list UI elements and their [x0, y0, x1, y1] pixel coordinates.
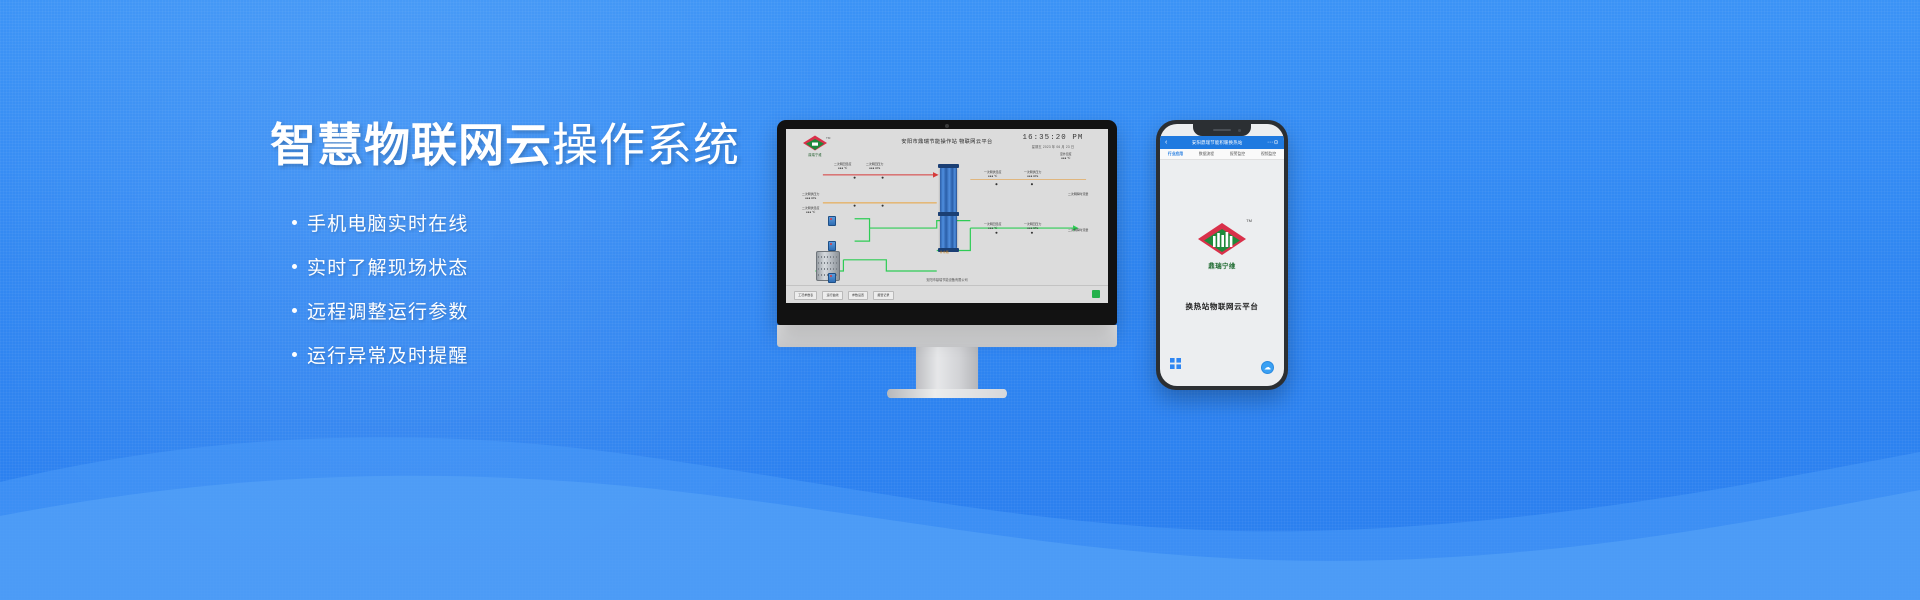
clock-date: 星期五 2023 年 06 月 23 日: [1014, 144, 1092, 149]
bullet-label: 远程调整运行参数: [307, 297, 469, 324]
scada-tab-bar[interactable]: 工况参数表 运行曲线 参数设置 报警记录: [794, 291, 894, 300]
bullet-label: 运行异常及时提醒: [307, 341, 469, 368]
sensor-label: 二次网供温度●●● ℃: [802, 207, 819, 214]
scada-footer: 安阳市鼎瑞节能设备有限公司 工况参数表 运行曲线 参数设置 报警记录: [786, 285, 1108, 303]
phone-frame: ‹ 安阳鼎瑞节能积暖换热站 ⋯⊙ 行业应用 数据流程 报警监控 视频监控: [1156, 120, 1288, 390]
phone-content: TM 鼎瑞宁维 换热站物联网云平台 ☁: [1160, 160, 1284, 386]
scada-diagram: 二次网回温度●●● ℃ 二次网回压力●●● kPa 二次网供压力●●● kPa …: [786, 159, 1108, 285]
clock-time: 16:35:20 PM: [1014, 134, 1092, 142]
chat-glyph: ☁: [1264, 364, 1271, 371]
smartphone-mockup: ‹ 安阳鼎瑞节能积暖换热站 ⋯⊙ 行业应用 数据流程 报警监控 视频监控: [1156, 120, 1288, 390]
heat-exchanger: [940, 167, 957, 213]
monitor-screen: TM 鼎瑞宁维 安阳市鼎瑞节能操作站 物联网云平台 16:35:20 PM 星期…: [786, 129, 1108, 303]
desktop-monitor-mockup: TM 鼎瑞宁维 安阳市鼎瑞节能操作站 物联网云平台 16:35:20 PM 星期…: [777, 120, 1117, 398]
scada-clock: 16:35:20 PM 星期五 2023 年 06 月 23 日: [1014, 134, 1092, 149]
bullet-label: 手机电脑实时在线: [307, 209, 469, 236]
hero-banner: 智慧物联网云操作系统 手机电脑实时在线 实时了解现场状态 远程调整运行参数 运行…: [0, 0, 1920, 600]
monitor-chin: [777, 325, 1117, 347]
monitor-bezel: TM 鼎瑞宁维 安阳市鼎瑞节能操作站 物联网云平台 16:35:20 PM 星期…: [777, 120, 1117, 325]
sensor-label: 二次网瞬时流量: [1068, 193, 1088, 197]
bullet-dot-icon: [292, 220, 297, 225]
tab-data-flow[interactable]: 数据流程: [1199, 152, 1214, 157]
company-logo: TM 鼎瑞宁维: [1195, 222, 1249, 258]
phone-nav-title: 安阳鼎瑞节能积暖换热站: [1167, 140, 1267, 146]
footer-copyright: 安阳市鼎瑞节能设备有限公司: [786, 277, 1108, 282]
bullet-dot-icon: [292, 264, 297, 269]
sensor-label: 二次网回压力●●● kPa: [866, 163, 883, 170]
headline-strong: 智慧物联网云: [270, 119, 552, 171]
sensor-label: 室外温度●●● ℃: [1060, 153, 1072, 160]
grid-icon[interactable]: [1170, 358, 1182, 370]
circulation-pump: [828, 241, 836, 251]
more-dots-icon[interactable]: ⋯⊙: [1267, 139, 1279, 146]
phone-tab-bar[interactable]: 行业应用 数据流程 报警监控 视频监控: [1160, 149, 1284, 160]
monitor-stand-base: [887, 389, 1007, 398]
platform-title: 换热站物联网云平台: [1160, 301, 1284, 312]
speaker-icon: [1213, 129, 1231, 131]
front-camera-icon: [1238, 129, 1241, 132]
tab-run-curve[interactable]: 运行曲线: [822, 291, 842, 300]
tab-operating-params[interactable]: 工况参数表: [794, 291, 817, 300]
tab-alarm-log[interactable]: 报警记录: [873, 291, 893, 300]
bottom-wave-decoration: [0, 390, 1920, 600]
sensor-label: 一次网供压力●●● kPa: [1024, 171, 1041, 178]
tab-industry-apps[interactable]: 行业应用: [1168, 152, 1183, 157]
phone-notch: [1193, 124, 1251, 136]
heat-exchanger: [940, 215, 957, 249]
sensor-label: 二次网供压力●●● kPa: [802, 193, 819, 200]
phone-screen: ‹ 安阳鼎瑞节能积暖换热站 ⋯⊙ 行业应用 数据流程 报警监控 视频监控: [1160, 124, 1284, 386]
sensor-label: 一次网回压力●●● kPa: [1024, 223, 1041, 230]
tab-video-monitor[interactable]: 视频监控: [1261, 152, 1276, 157]
sensor-label: 二次网瞬时流量: [1068, 229, 1088, 233]
tab-alarm-monitor[interactable]: 报警监控: [1230, 152, 1245, 157]
trademark-label: TM: [1246, 218, 1252, 223]
webcam-icon: [945, 124, 949, 128]
phone-navbar: ‹ 安阳鼎瑞节能积暖换热站 ⋯⊙: [1160, 136, 1284, 149]
tab-settings[interactable]: 参数设置: [848, 291, 868, 300]
monitor-stand-neck: [916, 347, 978, 389]
headline-light: 操作系统: [552, 119, 740, 171]
chat-icon[interactable]: ☁: [1261, 361, 1274, 374]
sensor-label: 一次网回温度●●● ℃: [984, 223, 1001, 230]
sensor-label: 一次网供温度●●● ℃: [984, 171, 1001, 178]
circulation-pump: [828, 216, 836, 226]
status-badge[interactable]: [1092, 290, 1100, 298]
bullet-dot-icon: [292, 352, 297, 357]
logo-caption: 鼎瑞宁维: [1195, 260, 1249, 270]
bullet-label: 实时了解现场状态: [307, 253, 469, 280]
equipment-label: 补水箱: [940, 251, 949, 255]
bullet-dot-icon: [292, 308, 297, 313]
sensor-label: 二次网回温度●●● ℃: [834, 163, 851, 170]
logo-caption: 鼎瑞宁维: [800, 152, 830, 157]
